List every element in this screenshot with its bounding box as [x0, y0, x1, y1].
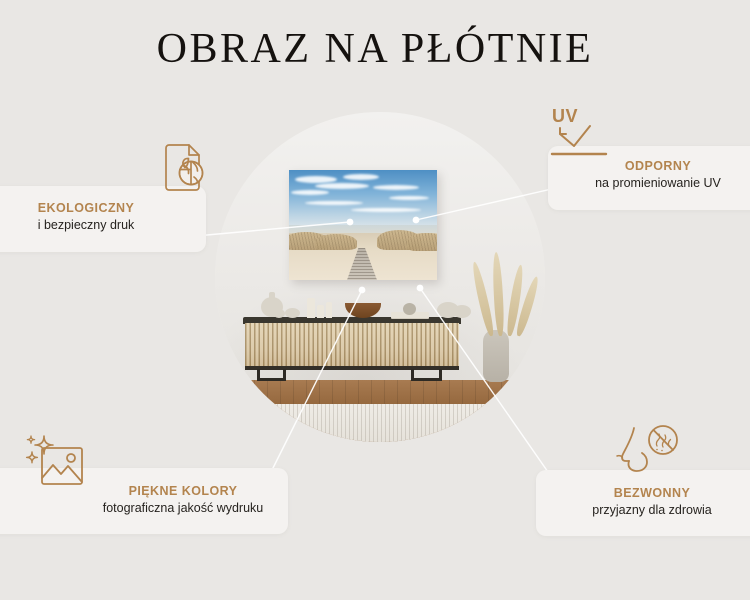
feature-subline: fotograficzna jakość wydruku	[78, 500, 288, 517]
area-rug	[215, 404, 545, 442]
feature-subline: na promieniowanie UV	[554, 175, 750, 192]
candle	[317, 305, 324, 318]
feature-text-odor: BEZWONNY przyjazny dla zdrowia	[542, 486, 750, 519]
cloud	[291, 190, 329, 195]
canvas-artwork	[289, 170, 437, 280]
cloud	[343, 174, 379, 180]
small-bowl	[273, 309, 285, 318]
decorative-sphere	[403, 303, 416, 315]
vase-neck	[269, 292, 275, 299]
feature-headline: PIĘKNE KOLORY	[78, 484, 288, 500]
ceramic-pot	[453, 305, 471, 318]
stone-floor-vase	[483, 330, 509, 382]
feature-subline: przyjazny dla zdrowia	[542, 502, 750, 519]
sideboard-leg-brace	[257, 378, 286, 381]
dune-grass	[315, 234, 357, 250]
feature-text-colors: PIĘKNE KOLORY fotograficzna jakość wydru…	[78, 484, 288, 517]
feature-headline: BEZWONNY	[542, 486, 750, 502]
cloud	[389, 196, 429, 200]
dune-grass	[407, 233, 437, 251]
sideboard	[243, 317, 461, 379]
room-scene	[215, 112, 545, 442]
feature-text-eco: EKOLOGICZNY i bezpieczny druk	[0, 201, 184, 234]
page-title: OBRAZ NA PŁÓTNIE	[0, 28, 750, 70]
cloud	[305, 201, 363, 205]
photo-sparkle-icon	[24, 432, 90, 497]
feature-subline: i bezpieczny druk	[0, 217, 184, 234]
infographic-canvas: OBRAZ NA PŁÓTNIE	[0, 0, 750, 600]
candle	[307, 298, 315, 318]
eco-document-globe-icon	[158, 142, 212, 203]
small-bowl	[285, 308, 300, 318]
sideboard-fluted-body	[245, 323, 459, 367]
candle	[326, 302, 332, 318]
product-scene-photo	[215, 112, 545, 442]
sideboard-base	[245, 366, 459, 370]
cloud	[315, 183, 369, 189]
uv-ray-deflect-icon	[548, 108, 612, 165]
cloud	[351, 208, 421, 212]
cloud	[373, 185, 419, 190]
nose-no-smell-icon	[610, 422, 682, 485]
sideboard-leg-brace	[411, 378, 442, 381]
cloud	[295, 176, 337, 183]
feature-headline: EKOLOGICZNY	[0, 201, 184, 217]
